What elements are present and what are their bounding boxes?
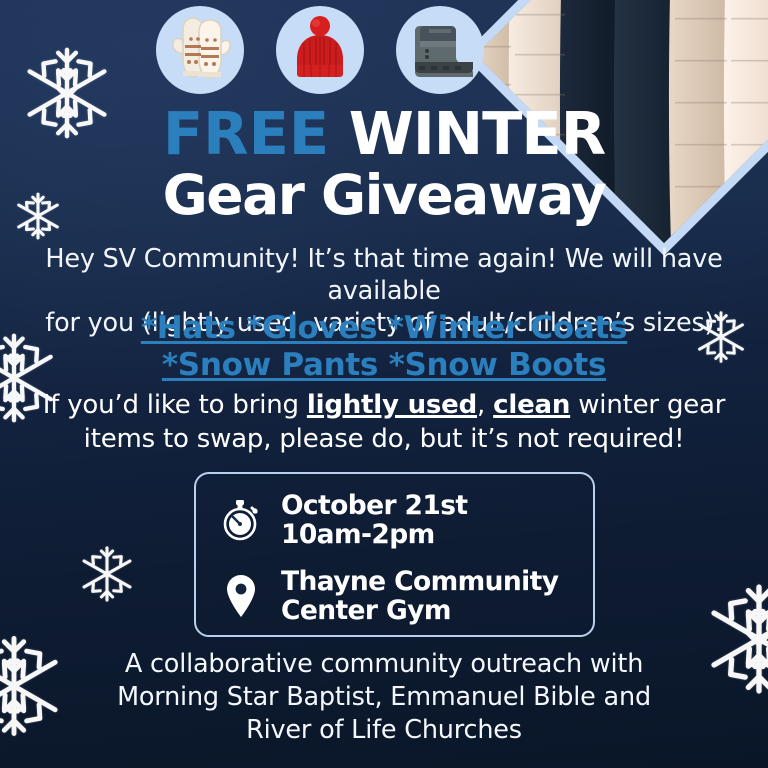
snowflake-icon [76,543,138,605]
winter-gear-giveaway-flyer: FREE WINTER Gear Giveaway Hey SV Communi… [0,0,768,768]
intro-line-1: Hey SV Community! It’s that time again! … [14,243,754,307]
headline-line-1: FREE WINTER [0,106,768,163]
event-date-line-2: 10am-2pm [281,520,467,549]
swap-middle: , [477,390,493,420]
location-pin-icon [218,573,264,619]
event-date-row: October 21st 10am-2pm [218,491,593,550]
event-location-line-2: Center Gym [281,596,558,625]
headline-free: FREE [163,99,329,168]
items-list: *Hats *Gloves *Winter Coats *Snow Pants … [14,310,754,383]
items-line-2-text: *Snow Pants *Snow Boots [162,347,606,383]
event-location-row: Thayne Community Center Gym [218,567,593,626]
items-line-2: *Snow Pants *Snow Boots [14,347,754,384]
beanie-hat-icon [276,6,364,94]
mittens-icon [156,6,244,94]
items-line-1: *Hats *Gloves *Winter Coats [14,310,754,347]
footer-credits: A collaborative community outreach with … [70,648,698,747]
swap-prefix: If you’d like to bring [43,390,307,420]
event-details-box: October 21st 10am-2pm Thayne Community C… [194,472,595,637]
snowflake-icon [0,632,68,740]
event-date-line-1: October 21st [281,491,467,520]
page-title: FREE WINTER Gear Giveaway [0,106,768,221]
event-location-text: Thayne Community Center Gym [281,567,558,626]
swap-emphasis-lightly-used: lightly used [307,390,477,420]
product-circles [156,6,484,94]
headline-line-2: Gear Giveaway [0,169,768,222]
swap-note: If you’d like to bring lightly used, cle… [36,389,732,457]
event-date-text: October 21st 10am-2pm [281,491,467,550]
swap-emphasis-clean: clean [493,390,570,420]
footer-line-3: River of Life Churches [70,714,698,747]
stopwatch-icon [218,497,264,543]
footer-line-2: Morning Star Baptist, Emmanuel Bible and [70,681,698,714]
snowflake-icon [700,580,768,698]
event-location-line-1: Thayne Community [281,567,558,596]
winter-boot-icon [396,6,484,94]
items-line-1-text: *Hats *Gloves *Winter Coats [141,310,627,346]
footer-line-1: A collaborative community outreach with [70,648,698,681]
headline-winter: WINTER [329,99,605,168]
